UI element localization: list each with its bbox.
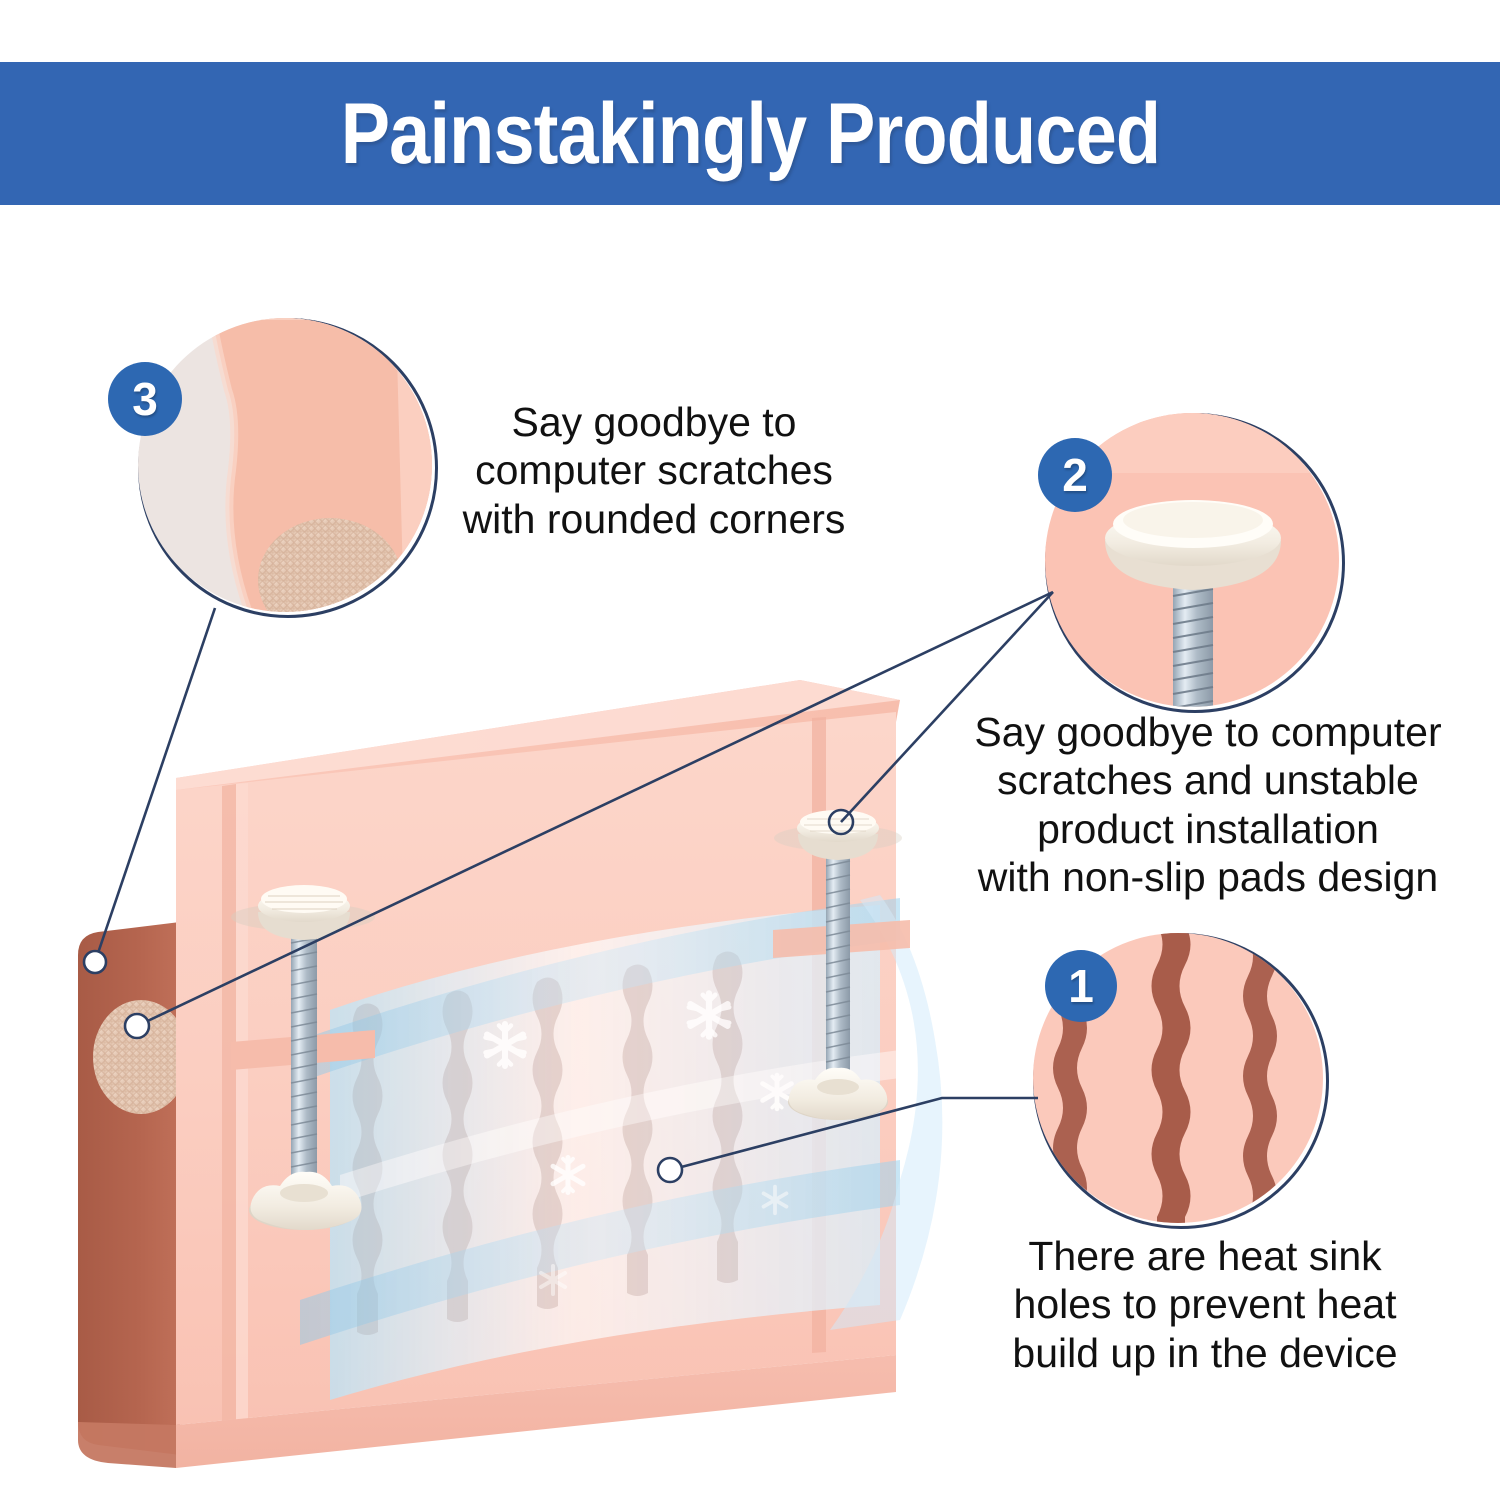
infographic-page: Painstakingly Produced: [0, 0, 1500, 1500]
leader-endpoint-3a: [84, 951, 106, 973]
header-banner: Painstakingly Produced: [0, 62, 1500, 205]
callout-text-1-line-2: holes to prevent heat: [962, 1280, 1448, 1328]
callout-text-2-line-1: Say goodbye to computer: [928, 708, 1488, 756]
leader-endpoint-1a: [658, 1158, 682, 1182]
callout-text-2-line-2: scratches and unstable: [928, 756, 1488, 804]
callout-text-1-line-1: There are heat sink: [962, 1232, 1448, 1280]
product-body: [78, 680, 942, 1468]
callout-text-3-line-3: with rounded corners: [432, 495, 876, 543]
callout-text-1: There are heat sink holes to prevent hea…: [962, 1232, 1448, 1377]
callout-text-3-line-2: computer scratches: [432, 446, 876, 494]
clamp-screw-right: [773, 810, 910, 1120]
callout-text-1-line-3: build up in the device: [962, 1329, 1448, 1377]
page-title: Painstakingly Produced: [340, 91, 1160, 177]
callout-text-2-line-4: with non-slip pads design: [928, 853, 1488, 901]
leader-endpoint-2b: [125, 1014, 149, 1038]
callout-text-3: Say goodbye to computer scratches with r…: [432, 398, 876, 543]
star-thumb-nut-left: [249, 1172, 362, 1230]
leader-line-3a: [95, 608, 215, 962]
non-slip-pad: [93, 1000, 189, 1114]
star-thumb-nut-right: [788, 1068, 888, 1120]
callout-badge-3: 3: [108, 362, 182, 436]
leader-endpoint-2a: [829, 810, 853, 834]
callout-badge-2: 2: [1038, 438, 1112, 512]
heat-sink-slots: [353, 952, 743, 1336]
callout-text-2-line-3: product installation: [928, 805, 1488, 853]
callout-text-3-line-1: Say goodbye to: [432, 398, 876, 446]
callout-circle-3: [138, 318, 438, 618]
clamp-screw-left: [231, 885, 375, 1230]
leader-line-1a: [670, 1098, 1038, 1170]
snowflake-icon-group: [486, 993, 792, 1294]
cool-airflow: [300, 895, 942, 1400]
callout-badge-1: 1: [1045, 950, 1117, 1022]
callout-text-2: Say goodbye to computer scratches and un…: [928, 708, 1488, 902]
leader-line-2b: [137, 592, 1053, 1026]
